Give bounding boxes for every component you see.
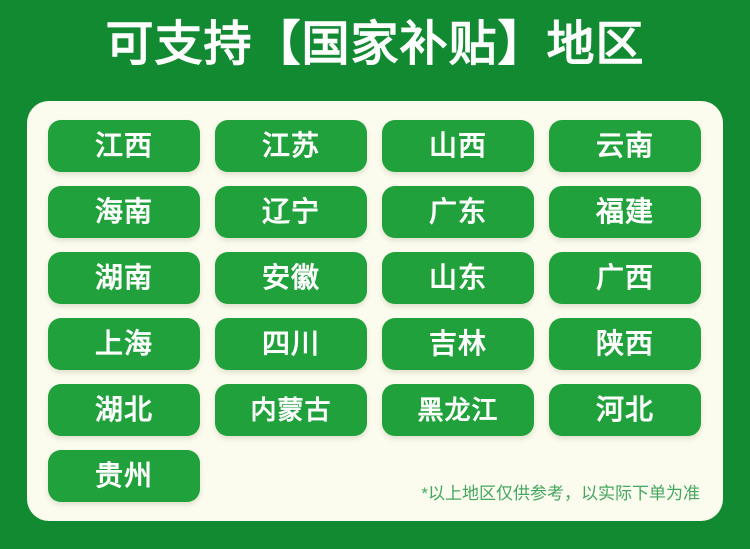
region-row: 湖北 内蒙古 黑龙江 河北 (48, 384, 702, 436)
region-pill[interactable]: 安徽 (215, 252, 367, 304)
region-pill[interactable]: 江苏 (215, 120, 367, 172)
promo-poster: 可支持【国家补贴】地区 江西 江苏 山西 云南 海南 辽宁 广东 福建 湖南 安… (0, 0, 750, 549)
region-pill[interactable]: 河北 (549, 384, 701, 436)
region-pill[interactable]: 广西 (549, 252, 701, 304)
region-pill[interactable]: 贵州 (48, 450, 200, 502)
region-pill[interactable]: 陕西 (549, 318, 701, 370)
region-pill[interactable]: 广东 (382, 186, 534, 238)
page-title: 可支持【国家补贴】地区 (0, 14, 750, 76)
region-card: 江西 江苏 山西 云南 海南 辽宁 广东 福建 湖南 安徽 山东 广西 上海 四… (27, 101, 723, 521)
region-pill[interactable]: 山西 (382, 120, 534, 172)
region-pill[interactable]: 山东 (382, 252, 534, 304)
region-row: 上海 四川 吉林 陕西 (48, 318, 702, 370)
region-pill[interactable]: 上海 (48, 318, 200, 370)
region-pill[interactable]: 辽宁 (215, 186, 367, 238)
region-row: 湖南 安徽 山东 广西 (48, 252, 702, 304)
region-pill[interactable]: 湖北 (48, 384, 200, 436)
region-pill[interactable]: 黑龙江 (382, 384, 534, 436)
region-row: 海南 辽宁 广东 福建 (48, 186, 702, 238)
disclaimer-note: *以上地区仅供参考，以实际下单为准 (421, 483, 700, 505)
region-pill[interactable]: 吉林 (382, 318, 534, 370)
region-pill[interactable]: 湖南 (48, 252, 200, 304)
region-pill[interactable]: 江西 (48, 120, 200, 172)
region-pill[interactable]: 海南 (48, 186, 200, 238)
region-row: 江西 江苏 山西 云南 (48, 120, 702, 172)
region-pill[interactable]: 内蒙古 (215, 384, 367, 436)
region-pill[interactable]: 云南 (549, 120, 701, 172)
region-pill[interactable]: 福建 (549, 186, 701, 238)
region-pill[interactable]: 四川 (215, 318, 367, 370)
region-grid: 江西 江苏 山西 云南 海南 辽宁 广东 福建 湖南 安徽 山东 广西 上海 四… (48, 120, 702, 516)
